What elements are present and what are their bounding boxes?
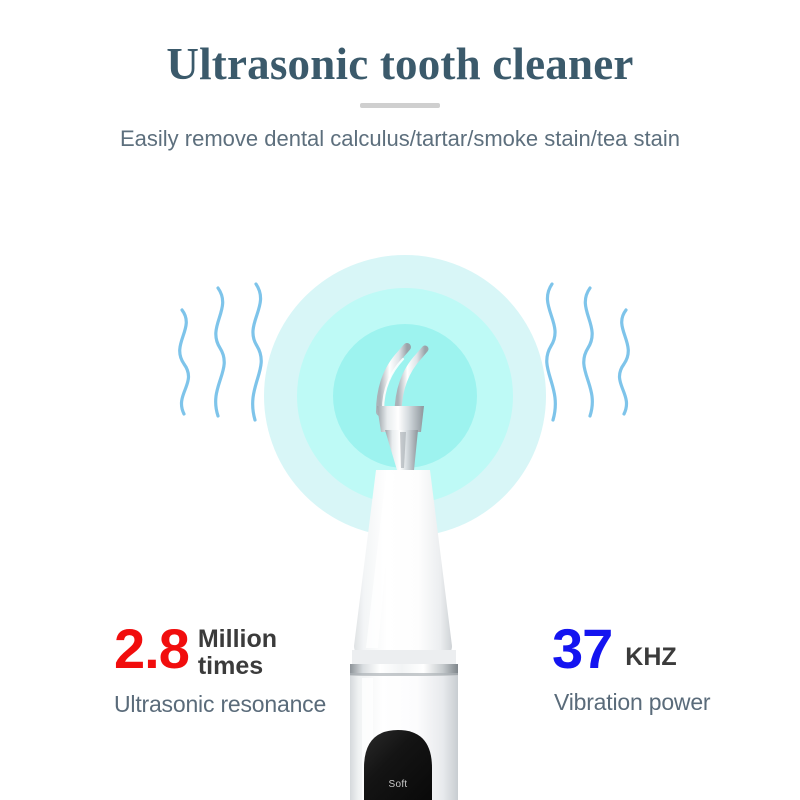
device-chrome-ring-shadow [350,673,458,676]
stat-caption-ultrasonic-resonance: Ultrasonic resonance [114,691,326,718]
scaler-tip-collar [377,406,424,432]
stat-unit-line: times [198,653,277,680]
stat-value-ultrasonic-resonance: 2.8 [114,622,189,677]
stat-unit-ultrasonic-resonance: Million times [198,622,277,679]
stat-unit-vibration-power: KHZ [625,622,676,671]
scaler-tip-prongs [380,347,425,414]
stat-vibration-power: 37 KHZ Vibration power [552,622,710,716]
device-screen-label: Soft [352,779,444,790]
device-neck [352,650,456,666]
product-infographic: Ultrasonic tooth cleaner Easily remove d… [0,0,800,800]
stat-ultrasonic-resonance: 2.8 Million times Ultrasonic resonance [114,622,326,718]
stat-unit-line: Million [198,626,277,653]
stat-caption-vibration-power: Vibration power [552,689,710,716]
stat-value-vibration-power: 37 [552,622,612,677]
